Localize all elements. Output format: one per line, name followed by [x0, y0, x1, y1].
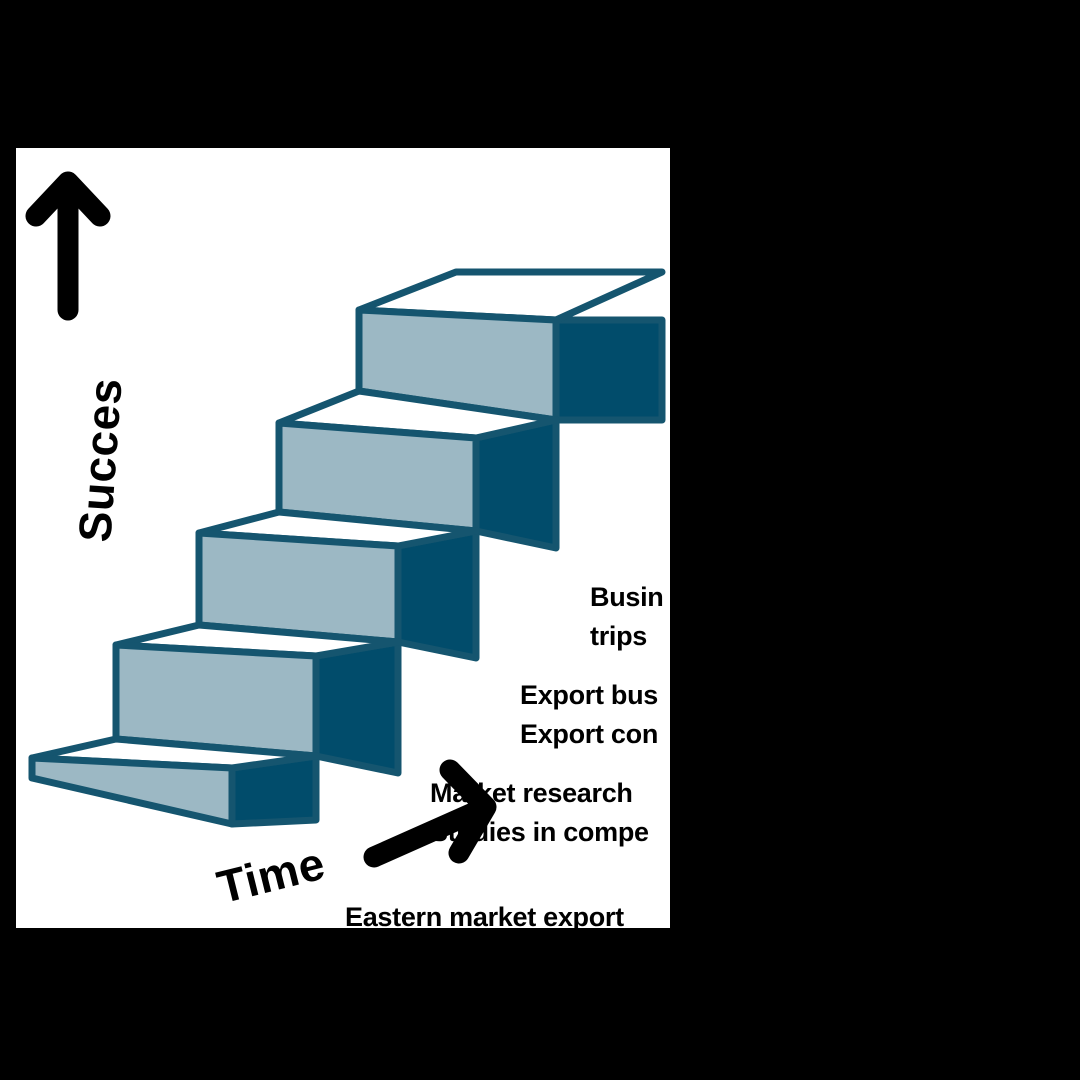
step-3-label-line-2: Export con	[520, 715, 658, 754]
step-1-label-line-1: Eastern market export	[345, 898, 624, 928]
step-4-side-face	[476, 420, 556, 548]
step-2-label: Market research Studies in compe	[430, 774, 649, 852]
step-1	[32, 739, 316, 824]
step-5-side-face	[556, 320, 662, 420]
step-3-label-line-1: Export bus	[520, 676, 658, 715]
step-4-label-line-2: trips	[590, 617, 664, 656]
step-1-front-face	[32, 758, 232, 824]
diagram-canvas: Busin trips Export bus Export con Market…	[0, 0, 1080, 1080]
diagram-panel: Busin trips Export bus Export con Market…	[16, 148, 670, 928]
succes-axis-arrow	[36, 182, 100, 310]
step-2-side-face	[316, 642, 398, 773]
step-1-label: Eastern market export	[345, 898, 624, 928]
up-arrow-icon	[36, 182, 100, 310]
step-4-label: Busin trips	[590, 578, 664, 656]
step-2-label-line-2: Studies in compe	[430, 813, 649, 852]
step-3-side-face	[398, 531, 476, 658]
step-3-label: Export bus Export con	[520, 676, 658, 754]
step-2-label-line-1: Market research	[430, 774, 649, 813]
step-4-label-line-1: Busin	[590, 578, 664, 617]
